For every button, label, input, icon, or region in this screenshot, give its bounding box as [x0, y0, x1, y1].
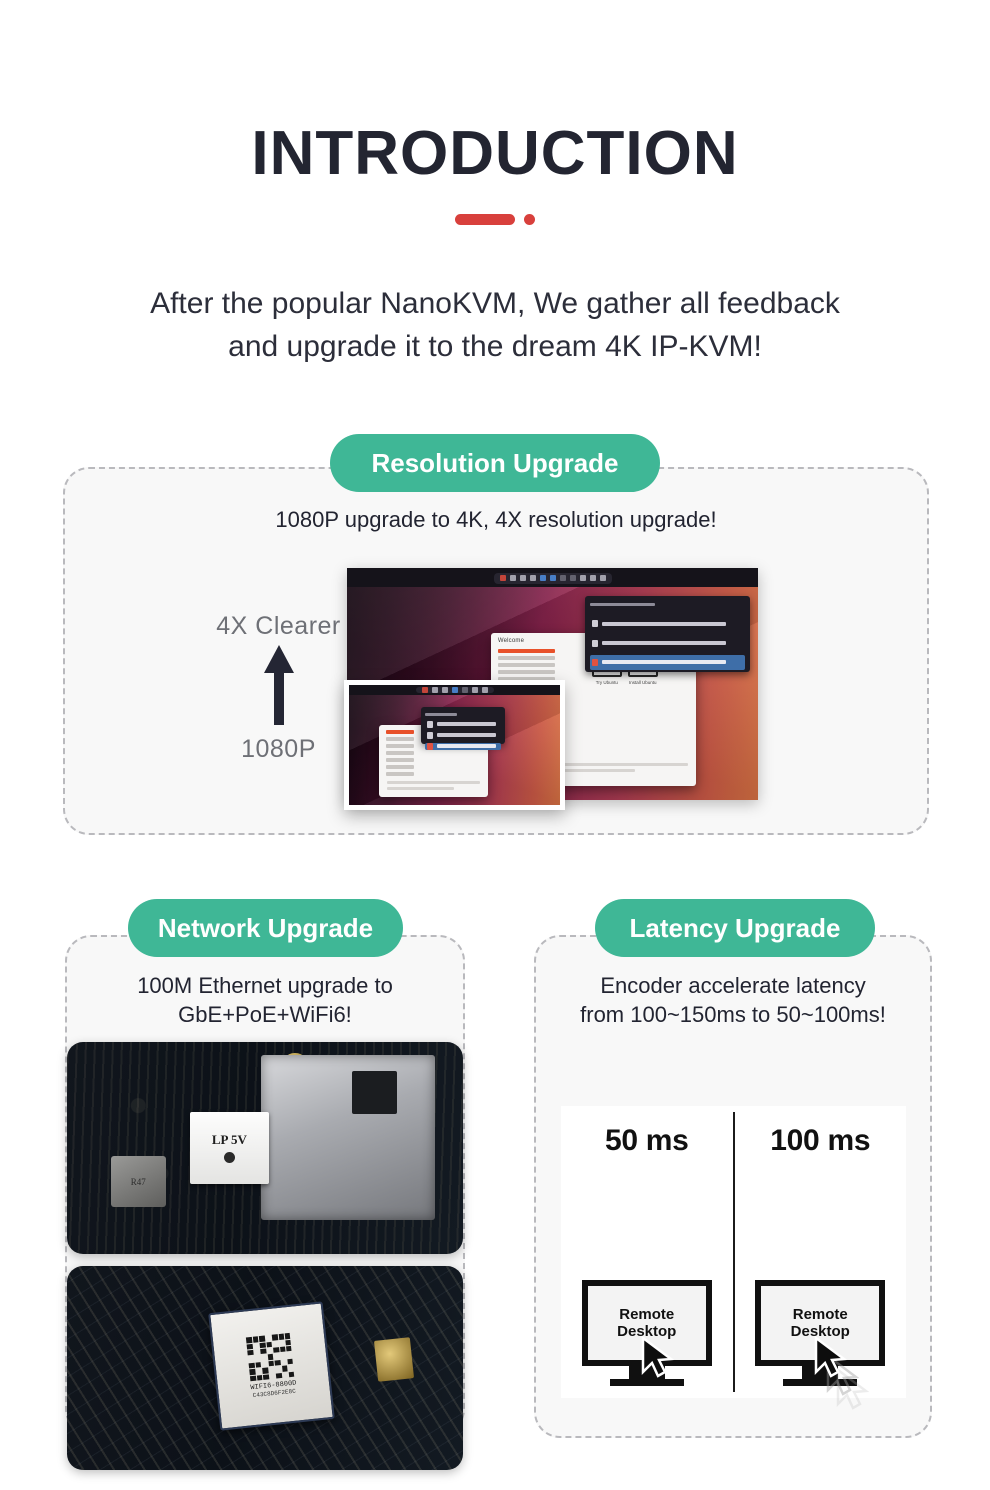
- welcome-body-text: [379, 781, 489, 790]
- close-icon: [482, 687, 488, 693]
- subtitle-line-2: and upgrade it to the dream 4K IP-KVM!: [0, 326, 990, 369]
- language-item: [498, 670, 555, 674]
- accent-rule: [0, 214, 990, 225]
- storage-icon: [550, 575, 556, 581]
- network-description: 100M Ethernet upgrade to GbE+PoE+WiFi6!: [65, 971, 465, 1029]
- accent-bar: [455, 214, 515, 225]
- language-item: [498, 656, 555, 660]
- language-list: [386, 730, 415, 776]
- iso-selection-menu: [421, 707, 505, 744]
- iso-item-selected: [425, 743, 501, 750]
- resolution-arrow-block: 4X Clearer 1080P: [196, 612, 361, 764]
- remote-desktop-monitor-slow: Remote Desktop: [755, 1280, 885, 1386]
- latency-description-line-1: Encoder accelerate latency: [534, 971, 932, 1000]
- fullscreen-icon: [590, 575, 596, 581]
- subtitle-line-1: After the popular NanoKVM, We gather all…: [0, 283, 990, 326]
- arrow-bottom-label: 1080P: [196, 735, 361, 764]
- ethernet-pcb-photo: R47 LP 5V: [67, 1042, 463, 1254]
- latency-value-fast: 50 ms: [605, 1124, 689, 1158]
- iso-item: [425, 732, 501, 739]
- iso-selection-menu: [585, 596, 749, 673]
- latency-upgrade-badge: Latency Upgrade: [595, 899, 875, 957]
- keyboard-icon: [520, 575, 526, 581]
- network-description-line-2: GbE+PoE+WiFi6!: [65, 1000, 465, 1029]
- try-caption: Try Ubuntu: [592, 680, 622, 685]
- iso-menu-title: [590, 603, 744, 613]
- antenna-pad: [374, 1338, 414, 1382]
- arrow-top-label: 4X Clearer: [196, 612, 361, 641]
- power-icon: [500, 575, 506, 581]
- keyboard-icon: [442, 687, 448, 693]
- image-icon: [540, 575, 546, 581]
- lp5v-chip: LP 5V: [190, 1112, 269, 1184]
- page-title: INTRODUCTION: [0, 118, 990, 189]
- install-caption: Install Ubuntu: [628, 680, 658, 685]
- introduction-page: INTRODUCTION After the popular NanoKVM, …: [0, 0, 990, 1490]
- mouse-icon: [530, 575, 536, 581]
- latency-comparison: 50 ms Remote Desktop: [561, 1106, 906, 1398]
- terminal-icon: [560, 575, 566, 581]
- network-upgrade-badge: Network Upgrade: [128, 899, 403, 957]
- kvm-toolbar: [494, 573, 612, 585]
- wifi-module-photo: WIFI6-8800D C43C8D6F2E8C: [67, 1266, 463, 1470]
- monitor-icon: [432, 687, 438, 693]
- rj45-connector: [261, 1055, 435, 1220]
- iso-item: [590, 616, 744, 631]
- language-item: [498, 649, 555, 653]
- screen-line-1: Remote: [619, 1306, 674, 1323]
- resolution-description: 1080P upgrade to 4K, 4X resolution upgra…: [63, 505, 929, 534]
- gear-icon: [472, 687, 478, 693]
- latency-description-line-2: from 100~150ms to 50~100ms!: [534, 1000, 932, 1029]
- qr-code-icon: [246, 1333, 294, 1381]
- latency-column-slow: 100 ms Remote Desktop: [735, 1106, 907, 1398]
- up-arrow-icon: [196, 641, 361, 729]
- iso-item: [425, 721, 501, 728]
- cursor-icon: [813, 1336, 847, 1378]
- cursor-icon: [640, 1336, 674, 1378]
- resolution-upgrade-badge: Resolution Upgrade: [330, 434, 660, 492]
- latency-value-slow: 100 ms: [770, 1124, 870, 1158]
- monitor-base: [610, 1379, 684, 1386]
- page-subtitle: After the popular NanoKVM, We gather all…: [0, 283, 990, 368]
- script-icon: [570, 575, 576, 581]
- chip-pin1-dot: [224, 1152, 235, 1163]
- network-description-line-1: 100M Ethernet upgrade to: [65, 971, 465, 1000]
- remote-desktop-monitor-fast: Remote Desktop: [582, 1280, 712, 1386]
- close-icon: [600, 575, 606, 581]
- iso-item-selected: [590, 655, 744, 670]
- monitor-icon: [510, 575, 516, 581]
- power-icon: [422, 687, 428, 693]
- accent-dot: [524, 214, 535, 225]
- iso-menu-title: [425, 713, 501, 717]
- terminal-icon: [462, 687, 468, 693]
- inductor-r47: R47: [111, 1156, 166, 1207]
- kvm-toolbar: [416, 687, 494, 693]
- screen-line-1: Remote: [793, 1306, 848, 1323]
- screenshot-1080p: [344, 680, 565, 810]
- language-item: [498, 663, 555, 667]
- gear-icon: [580, 575, 586, 581]
- image-icon: [452, 687, 458, 693]
- wifi6-module: WIFI6-8800D C43C8D6F2E8C: [208, 1301, 335, 1431]
- latency-column-fast: 50 ms Remote Desktop: [561, 1106, 733, 1398]
- latency-description: Encoder accelerate latency from 100~150m…: [534, 971, 932, 1029]
- iso-item: [590, 636, 744, 651]
- chip-label: LP 5V: [212, 1132, 247, 1148]
